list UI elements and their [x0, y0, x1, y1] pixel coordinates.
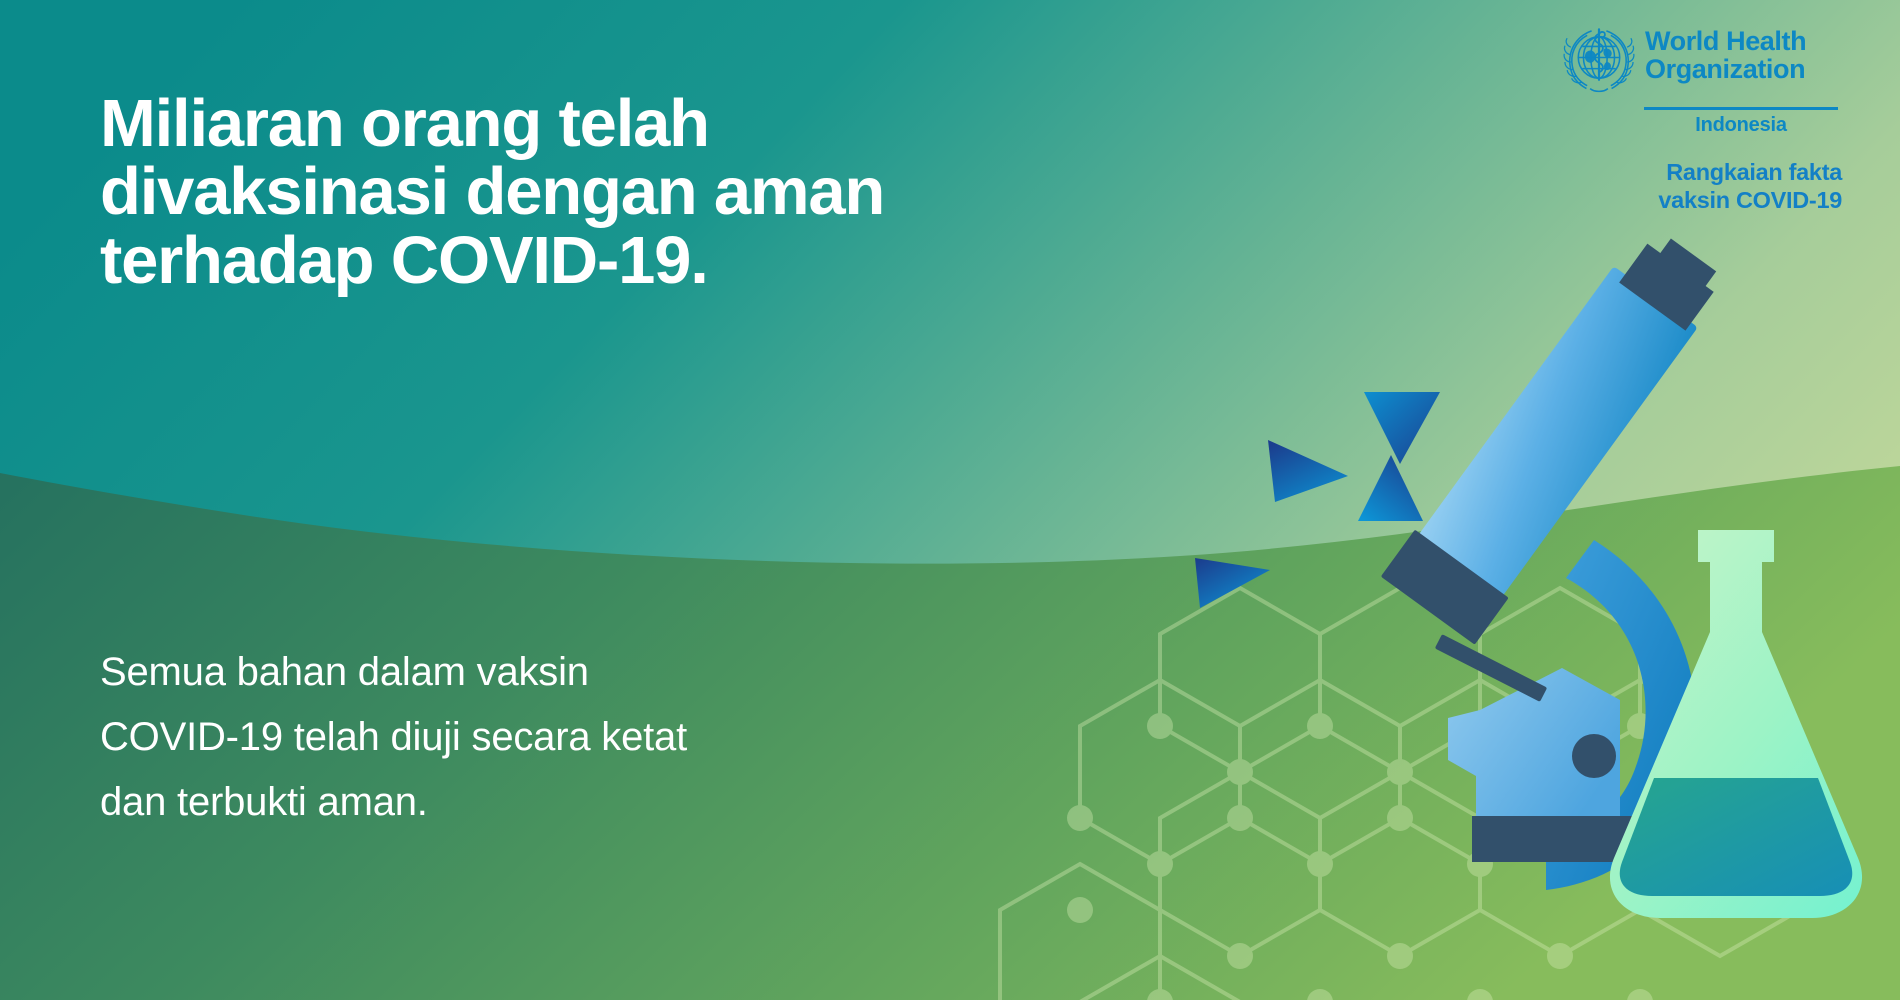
who-logo-lockup: World Health Organization [1562, 22, 1842, 101]
microscope-focus-knob [1572, 734, 1616, 778]
who-country-label: Indonesia [1644, 114, 1838, 137]
page-title: Miliaran orang telah divaksinasi dengan … [100, 90, 1020, 295]
who-organization-name: World Health Organization [1645, 22, 1806, 83]
who-branding-block: World Health Organization Indonesia Rang… [1562, 22, 1842, 214]
poster-canvas: Miliaran orang telah divaksinasi dengan … [0, 0, 1900, 1000]
campaign-tagline: Rangkaian fakta vaksin COVID-19 [1562, 159, 1842, 214]
body-copy: Semua bahan dalam vaksin COVID-19 telah … [100, 640, 860, 834]
flask-liquid [1620, 778, 1853, 896]
who-emblem-icon [1562, 22, 1636, 101]
who-divider-rule [1644, 107, 1838, 110]
